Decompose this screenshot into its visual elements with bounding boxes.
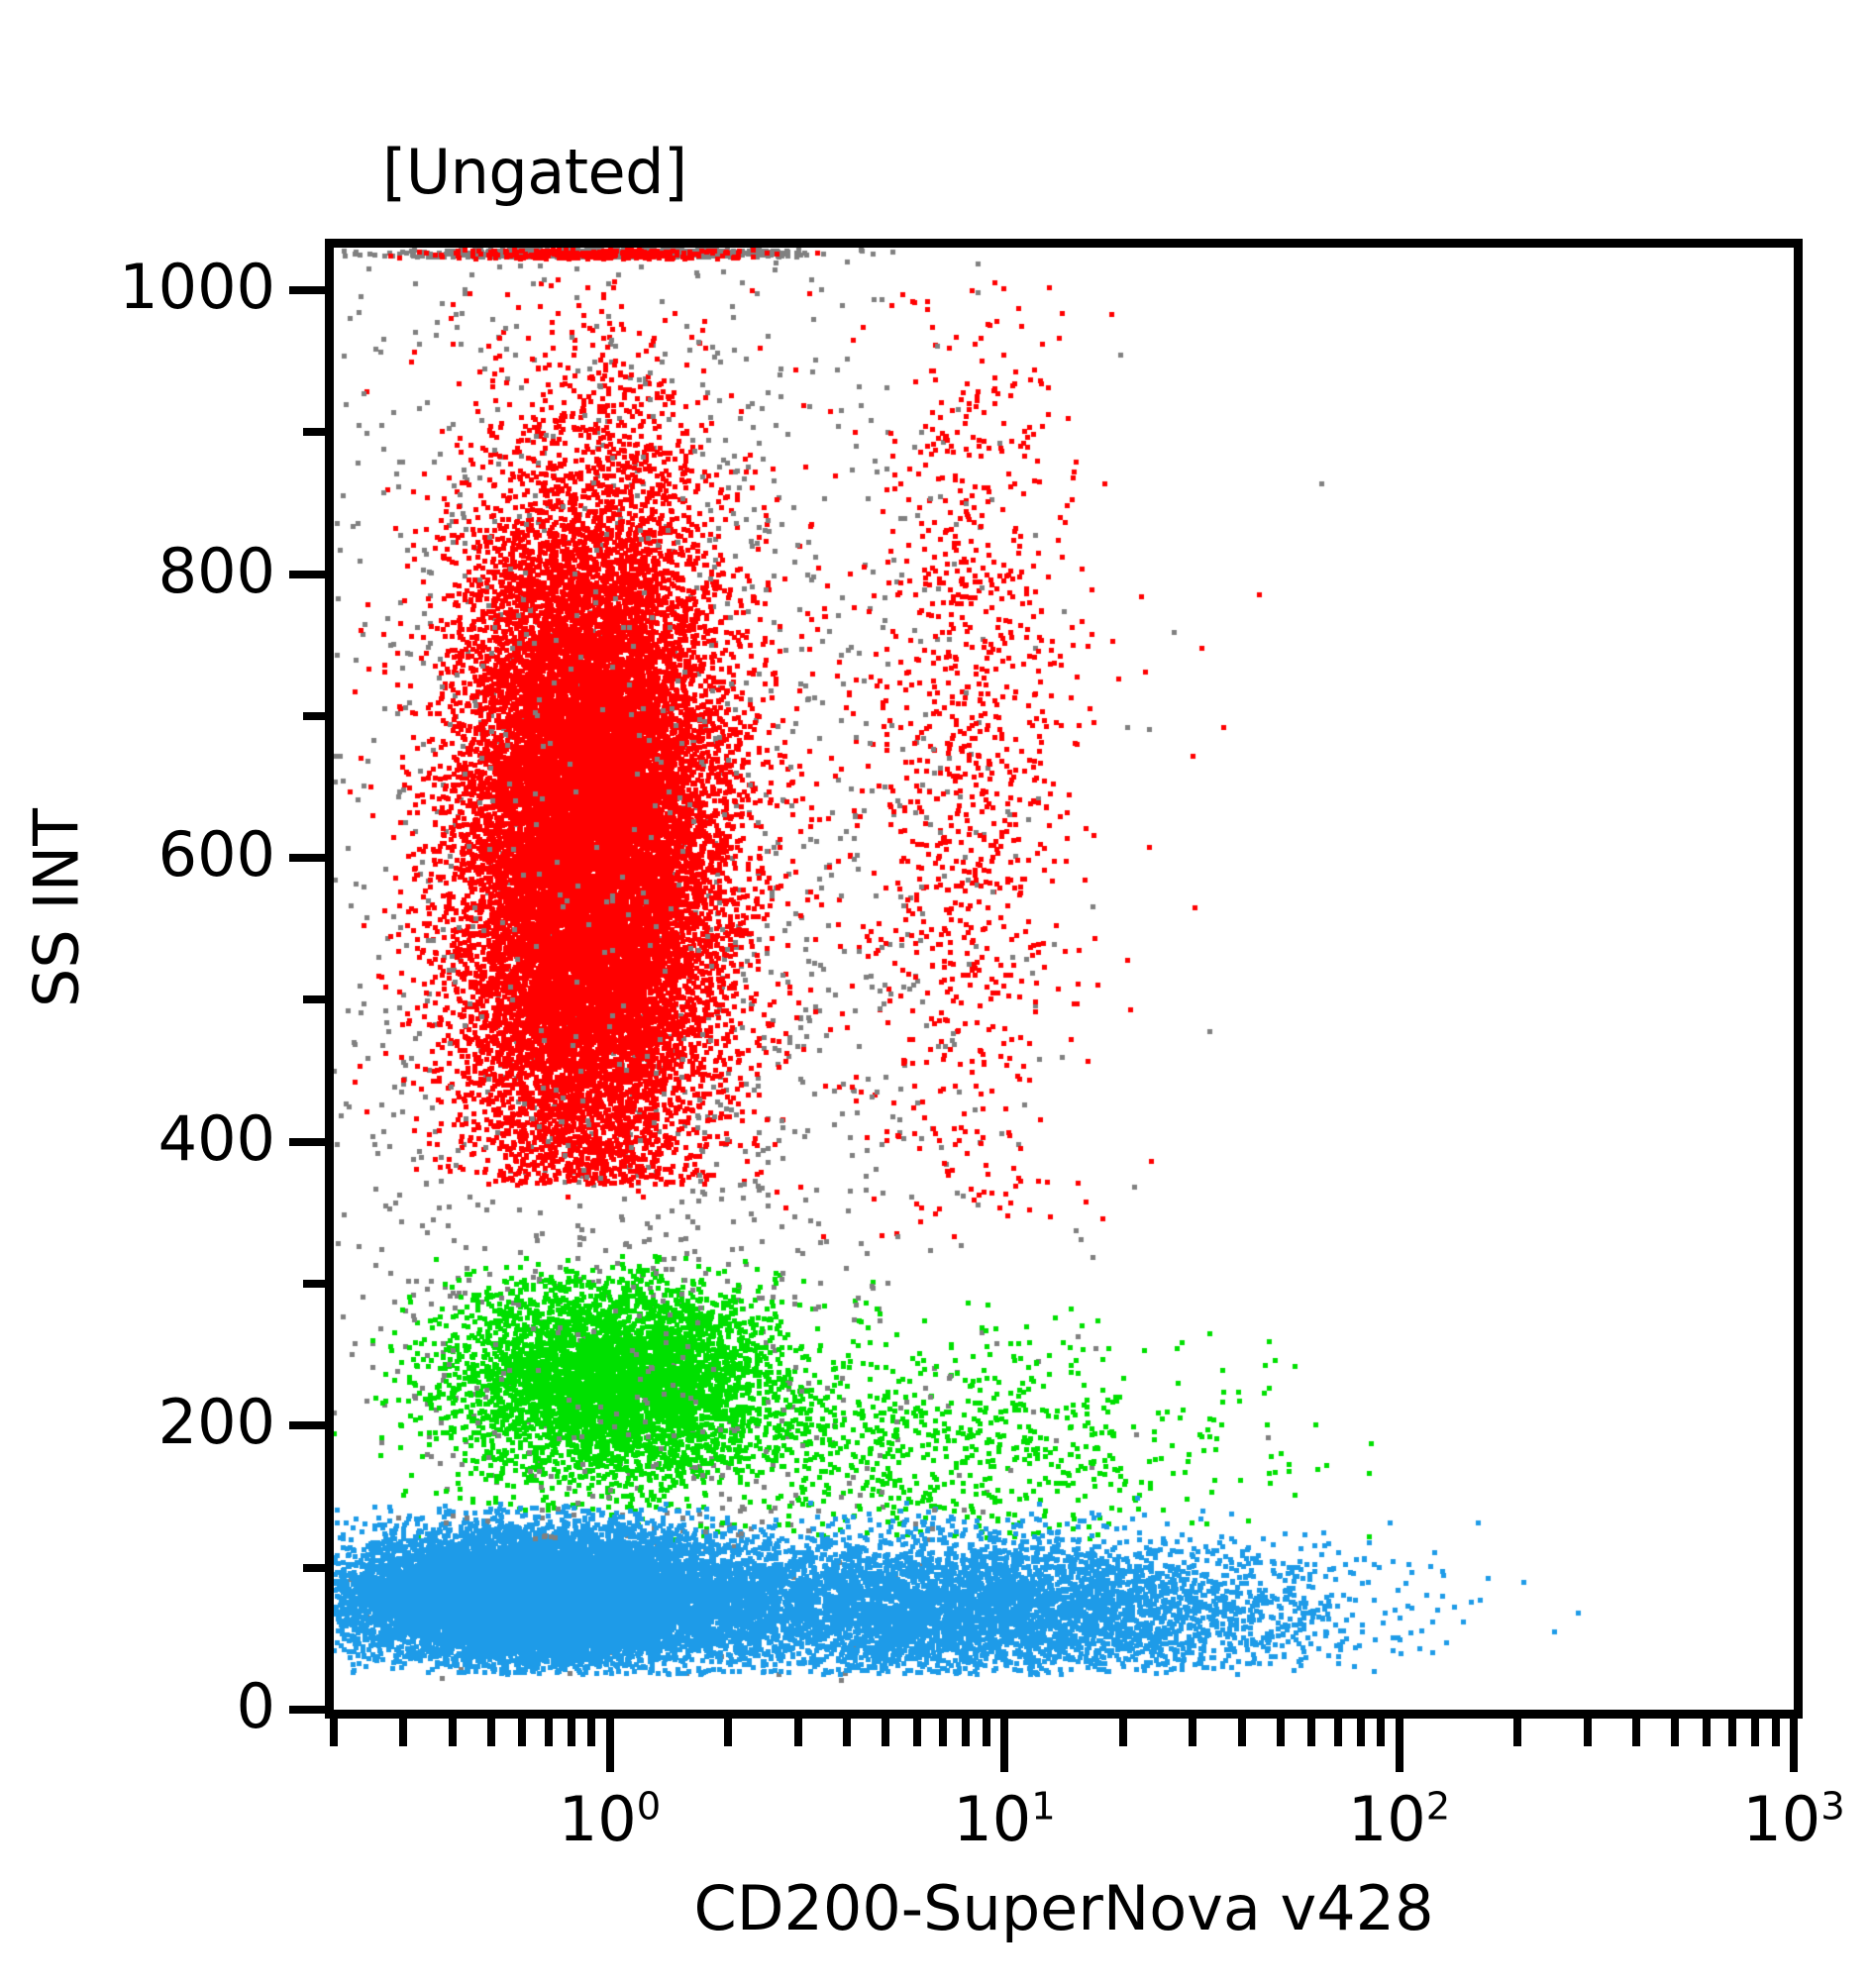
x-axis-tick-minor bbox=[794, 1719, 802, 1746]
x-axis-tick-minor bbox=[882, 1719, 889, 1746]
y-axis-tick-major bbox=[289, 1138, 325, 1146]
x-axis-tick-major bbox=[606, 1719, 614, 1772]
axis-tick-layer: 02004006008001000100101102103 bbox=[0, 0, 1870, 1988]
y-axis-tick-minor bbox=[303, 428, 325, 436]
x-axis-tick-minor bbox=[843, 1719, 851, 1746]
x-axis-tick-minor bbox=[1671, 1719, 1679, 1746]
x-axis-tick-label: 101 bbox=[953, 1783, 1055, 1855]
x-axis-tick-minor bbox=[1751, 1719, 1759, 1746]
x-axis-tick-major bbox=[1790, 1719, 1798, 1772]
y-axis-tick-major bbox=[289, 571, 325, 578]
y-axis-tick-minor bbox=[303, 1280, 325, 1288]
y-axis-tick-label: 1000 bbox=[0, 251, 275, 323]
x-axis-tick-minor bbox=[568, 1719, 575, 1746]
x-axis-tick-minor bbox=[1189, 1719, 1196, 1746]
x-axis-tick-minor bbox=[1772, 1719, 1780, 1746]
x-axis-tick-minor bbox=[1307, 1719, 1315, 1746]
y-axis-tick-label: 0 bbox=[0, 1670, 275, 1742]
y-axis-tick-label: 600 bbox=[0, 818, 275, 890]
x-axis-tick-minor bbox=[983, 1719, 990, 1746]
y-axis-tick-major bbox=[289, 854, 325, 862]
x-axis-tick-minor bbox=[1119, 1719, 1127, 1746]
x-axis-tick-label: 102 bbox=[1348, 1783, 1450, 1855]
x-axis-tick-minor bbox=[1238, 1719, 1246, 1746]
y-axis-tick-minor bbox=[303, 712, 325, 720]
y-axis-tick-minor bbox=[303, 995, 325, 1003]
x-axis-tick-minor bbox=[587, 1719, 595, 1746]
x-axis-tick-minor bbox=[399, 1719, 407, 1746]
x-axis-tick-minor bbox=[1513, 1719, 1521, 1746]
y-axis-tick-major bbox=[289, 1706, 325, 1714]
x-axis-tick-major bbox=[1396, 1719, 1403, 1772]
x-axis-tick-minor bbox=[330, 1719, 338, 1746]
y-axis-tick-major bbox=[289, 286, 325, 294]
x-axis-tick-minor bbox=[1334, 1719, 1342, 1746]
x-axis-tick-major bbox=[1000, 1719, 1008, 1772]
x-axis-tick-minor bbox=[449, 1719, 457, 1746]
x-axis-tick-minor bbox=[1728, 1719, 1736, 1746]
x-axis-tick-minor bbox=[487, 1719, 495, 1746]
y-axis-tick-minor bbox=[303, 1564, 325, 1572]
x-axis-tick-minor bbox=[1584, 1719, 1592, 1746]
x-axis-tick-minor bbox=[1277, 1719, 1285, 1746]
y-axis-tick-label: 200 bbox=[0, 1386, 275, 1458]
y-axis-tick-major bbox=[289, 1421, 325, 1429]
x-axis-tick-minor bbox=[1377, 1719, 1385, 1746]
x-axis-tick-minor bbox=[939, 1719, 947, 1746]
x-axis-tick-minor bbox=[1703, 1719, 1711, 1746]
x-axis-tick-minor bbox=[518, 1719, 526, 1746]
x-axis-tick-minor bbox=[1632, 1719, 1640, 1746]
x-axis-tick-minor bbox=[913, 1719, 921, 1746]
x-axis-tick-minor bbox=[545, 1719, 553, 1746]
y-axis-tick-label: 400 bbox=[0, 1102, 275, 1175]
x-axis-tick-minor bbox=[724, 1719, 732, 1746]
x-axis-tick-label: 103 bbox=[1742, 1783, 1844, 1855]
y-axis-tick-label: 800 bbox=[0, 535, 275, 607]
x-axis-tick-minor bbox=[962, 1719, 970, 1746]
x-axis-tick-label: 100 bbox=[559, 1783, 661, 1855]
x-axis-tick-minor bbox=[1357, 1719, 1365, 1746]
